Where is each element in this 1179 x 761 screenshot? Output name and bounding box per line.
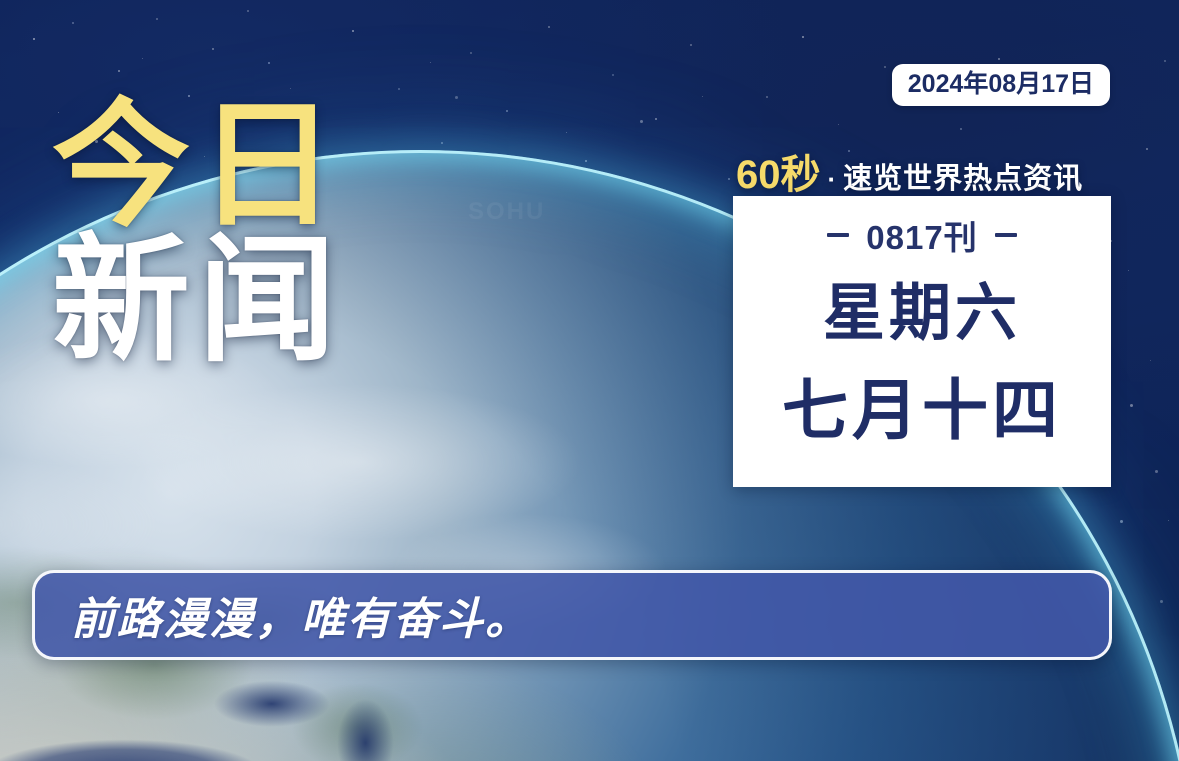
issue-info-card: 0817刊 星期六 七月十四 [733,196,1111,487]
news-poster: SOHU 今日 新闻 2024年08月17日 60秒 · 速览世界热点资讯 08… [0,0,1179,761]
tagline-description: 速览世界热点资讯 [843,155,1083,197]
issue-row: 0817刊 [827,211,1016,259]
lunar-date-label: 七月十四 [782,377,1062,443]
quote-banner: 前路漫漫，唯有奋斗。 [32,570,1112,660]
title-line-jinri: 今日 [52,96,344,237]
weekday-label: 星期六 [823,283,1021,345]
tagline-seconds: 60秒 [736,142,821,200]
issue-number: 0817刊 [866,211,977,259]
poster-title: 今日 新闻 [52,96,344,372]
tagline-separator-dot: · [826,164,839,195]
quote-text: 前路漫漫，唯有奋斗。 [35,583,531,647]
starfield-layer-3 [0,0,1,1]
date-badge: 2024年08月17日 [892,64,1110,106]
tagline: 60秒 · 速览世界热点资讯 [736,142,1083,200]
dash-right-icon [995,233,1017,237]
title-line-xinwen: 新闻 [52,231,344,372]
dash-left-icon [827,233,849,237]
